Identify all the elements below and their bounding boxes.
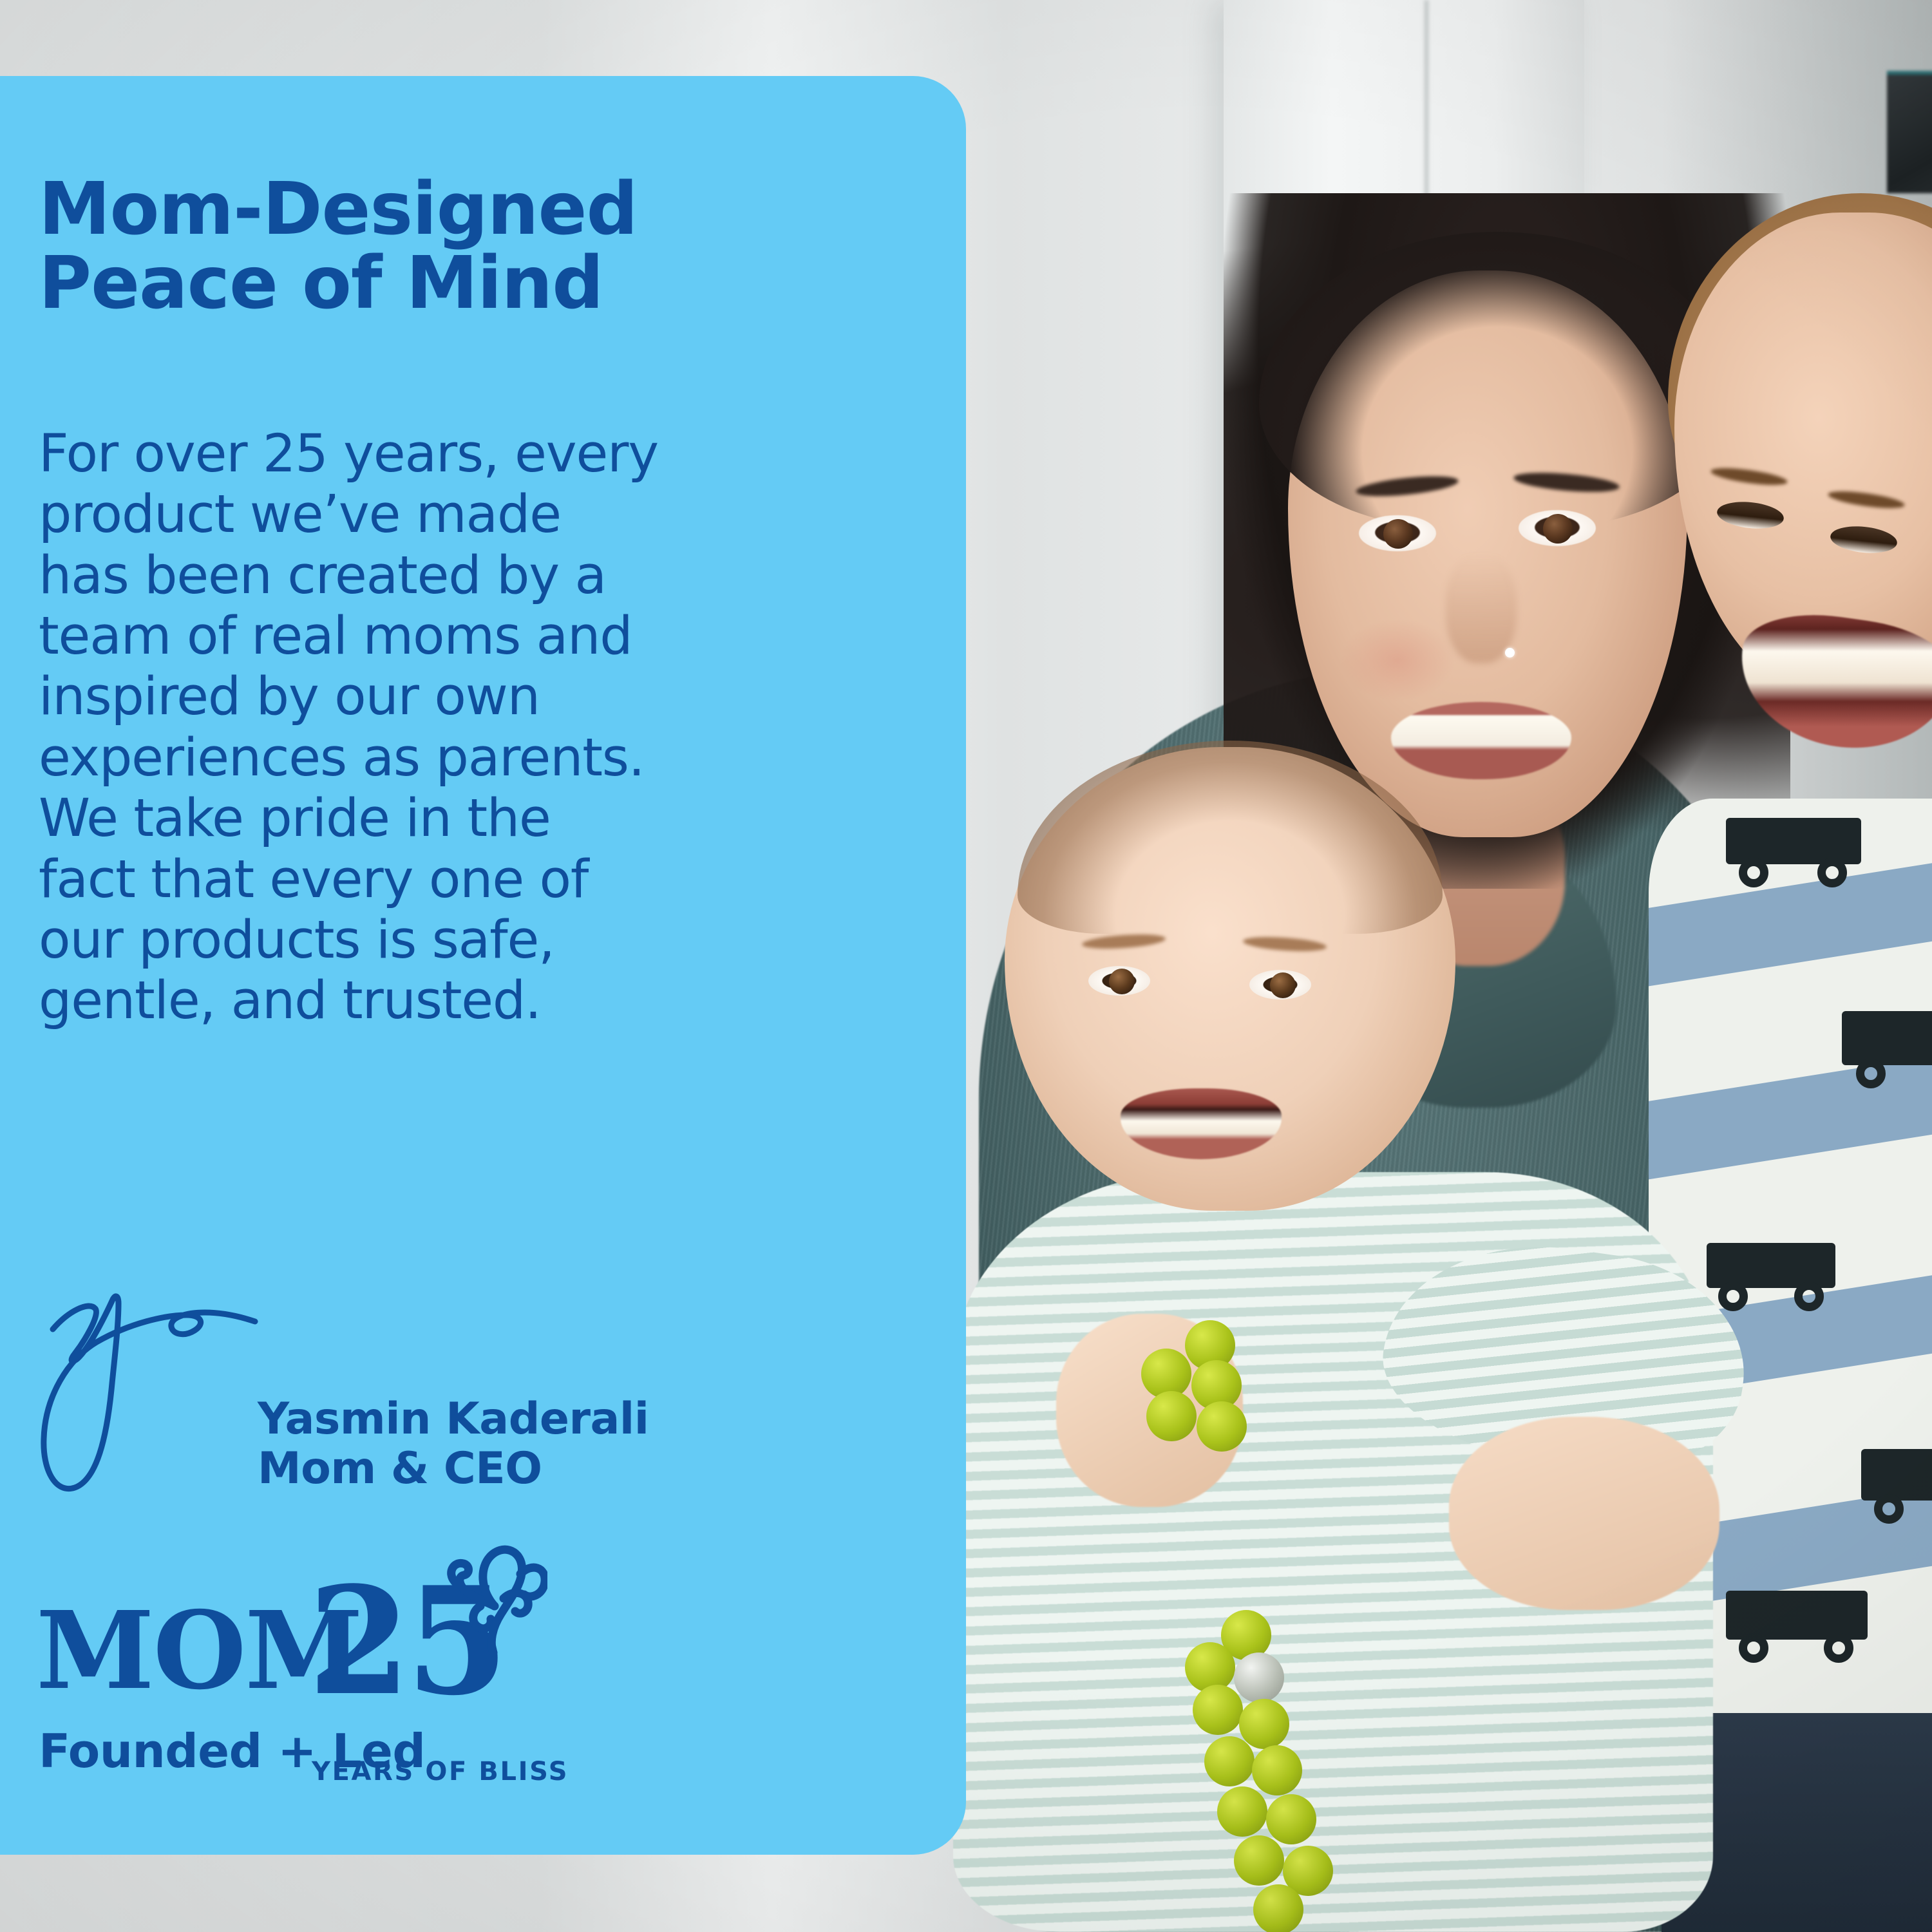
truck-motif	[1707, 1243, 1835, 1288]
mother-nose-stud	[1505, 648, 1515, 658]
mother-smile	[1391, 702, 1571, 779]
body-paragraph: For over 25 years, every product we’ve m…	[39, 424, 882, 1032]
truck-motif	[1842, 1011, 1932, 1065]
baby-pupil-left	[1109, 969, 1135, 994]
testimonial-card: Mom-Designed Peace of Mind For over 25 y…	[0, 76, 966, 1855]
butterfly-icon	[444, 1539, 547, 1662]
anniversary-caption: YEARS OF BLISS	[312, 1757, 569, 1786]
truck-motif	[1861, 1449, 1932, 1501]
attribution-block: Yasmin Kaderali Mom & CEO	[258, 1395, 649, 1494]
mother-nose	[1446, 554, 1517, 663]
mother-pupil-left	[1383, 519, 1413, 549]
truck-motif	[1726, 1591, 1868, 1640]
baby-arm	[1449, 1417, 1719, 1610]
dark-frame-object	[1887, 71, 1932, 193]
mother-pupil-right	[1543, 514, 1573, 544]
teething-bead-necklace	[1108, 1320, 1378, 1932]
mother-cheek	[1340, 618, 1455, 702]
baby-pupil-right	[1270, 972, 1296, 998]
handwritten-signature-icon	[33, 1287, 265, 1499]
truck-motif	[1726, 818, 1861, 864]
page-title: Mom-Designed Peace of Mind	[39, 173, 876, 321]
